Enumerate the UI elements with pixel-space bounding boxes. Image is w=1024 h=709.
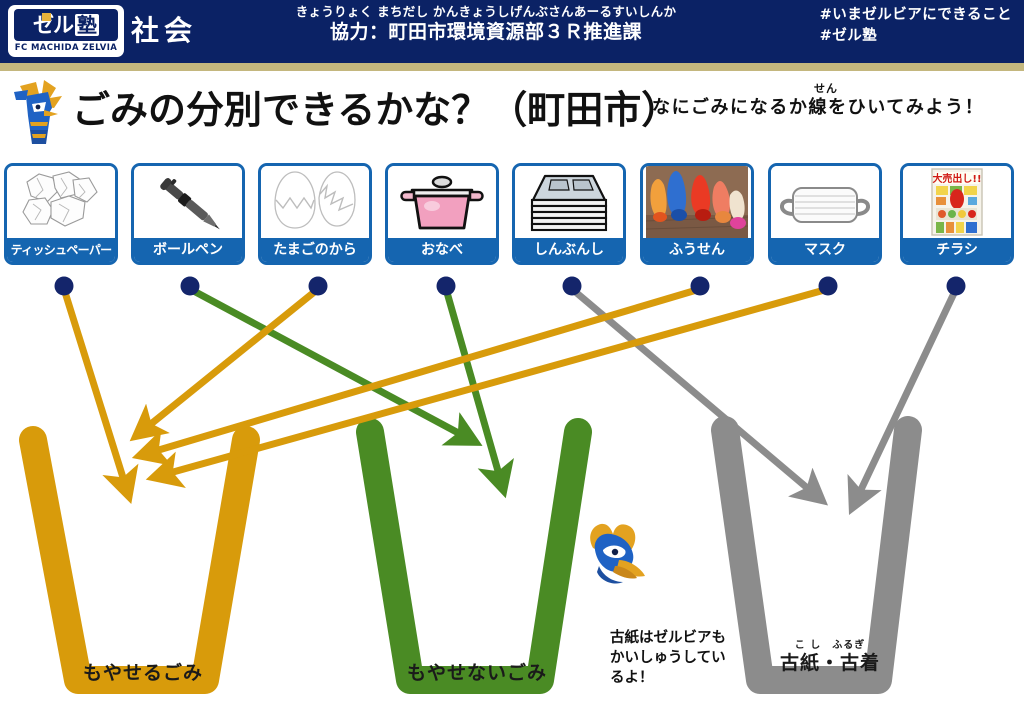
note-text: 古紙はゼルビアもかいしゅうしているよ！ (610, 628, 740, 688)
poster-root: ゼル 塾 FC MACHIDA ZELVIA 社会 きょうりょく まちだし かん… (0, 0, 1024, 709)
bin-label-burnable: もやせるごみ (78, 662, 208, 684)
bin-layer: もやせるごみ もやせないごみ こ し ふるぎ 古紙・古着 (0, 0, 1024, 709)
bin-burnable[interactable] (33, 440, 246, 680)
bin-label-non-burnable: もやせないごみ (404, 662, 550, 684)
bin-label-paper-cloth: こ し ふるぎ 古紙・古着 (760, 640, 900, 674)
bins-svg (0, 0, 1024, 709)
bin-non-burnable[interactable] (370, 432, 578, 680)
zelvia-bird-head-icon (585, 520, 647, 612)
